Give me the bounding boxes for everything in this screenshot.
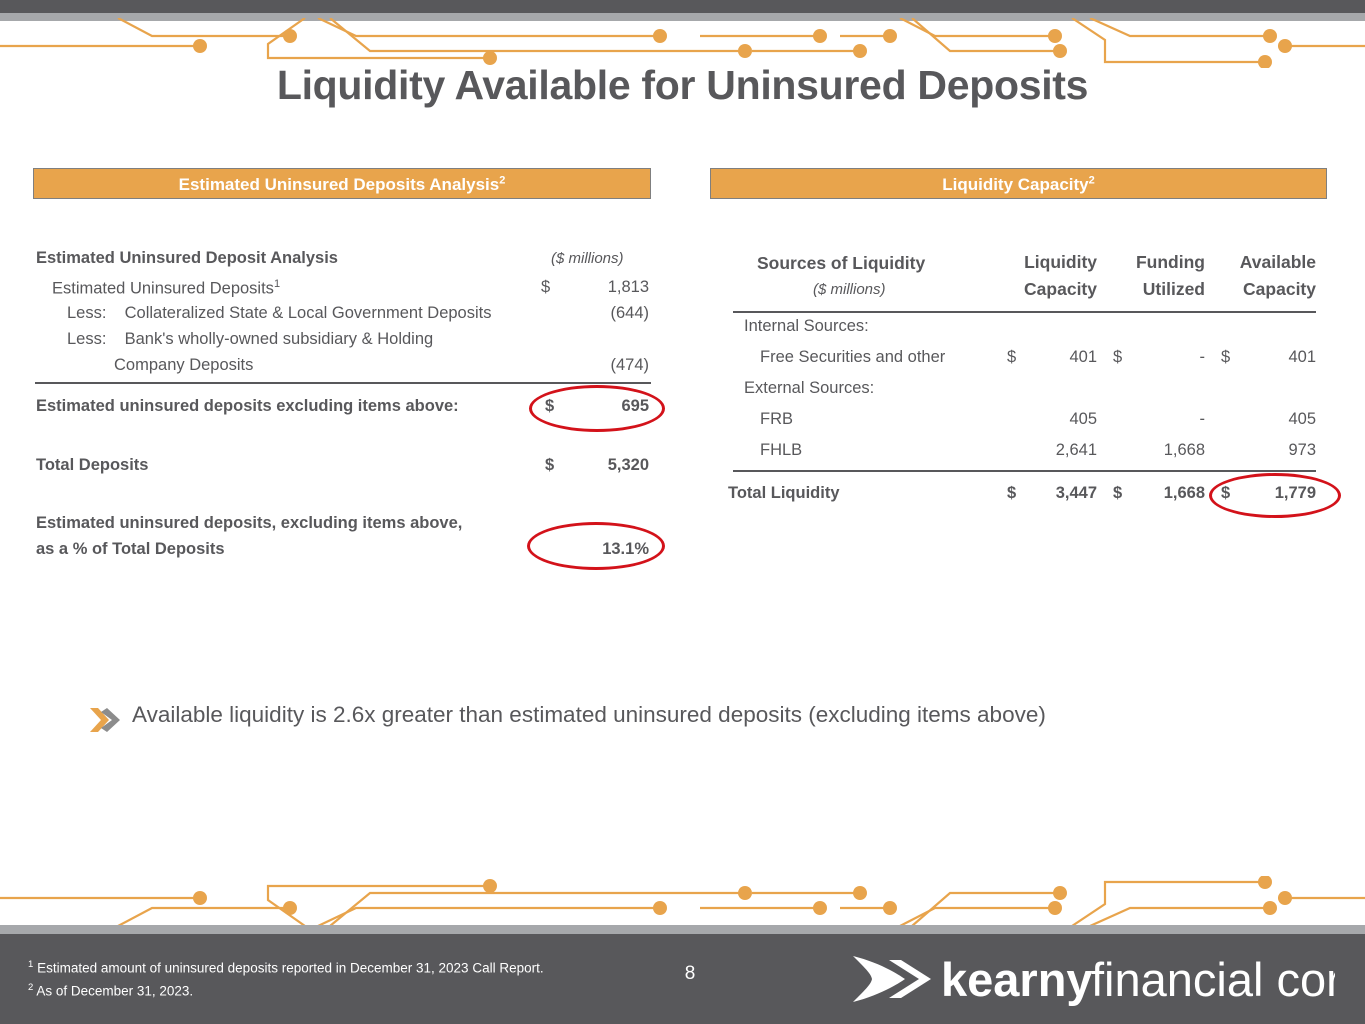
- total-deposits-label: Total Deposits: [36, 456, 148, 475]
- total-deposits-currency: $: [545, 456, 554, 475]
- liq-row-3-v1: 405: [1022, 410, 1097, 429]
- liq-row-4-v2: 1,668: [1128, 441, 1205, 460]
- subtotal-value: 695: [560, 397, 649, 416]
- total-liquidity-v2: 1,668: [1128, 484, 1205, 503]
- left-panel-header: Estimated Uninsured Deposits Analysis2: [33, 168, 651, 199]
- liq-row-1-cur1: $: [1007, 348, 1016, 367]
- total-deposits-value: 5,320: [560, 456, 649, 475]
- right-panel-header-label: Liquidity Capacity: [942, 175, 1088, 194]
- subtotal-currency: $: [545, 397, 554, 416]
- liq-row-3-label: FRB: [760, 410, 793, 429]
- bottom-light-bar: [0, 925, 1365, 934]
- row-0-superscript: 1: [274, 278, 280, 290]
- col-header-available: Available: [1221, 252, 1316, 273]
- table-row-label-0: Estimated Uninsured Deposits1: [52, 278, 280, 299]
- row-2-prefix: Less:: [67, 330, 106, 348]
- col-header-units: ($ millions): [813, 281, 886, 298]
- total-liquidity-cur2: $: [1113, 484, 1122, 503]
- footnote-1: 1 Estimated amount of uninsured deposits…: [28, 955, 544, 978]
- liq-row-1-cur3: $: [1221, 348, 1230, 367]
- table-row-label-3: Company Deposits: [114, 356, 253, 375]
- row-1-prefix: Less:: [67, 304, 106, 322]
- row-2-label: Bank's wholly-owned subsidiary & Holding: [125, 330, 434, 348]
- liq-row-1-label: Free Securities and other: [760, 348, 945, 367]
- col-header-capacity-2: Capacity: [1221, 279, 1316, 300]
- subtotal-label: Estimated uninsured deposits excluding i…: [36, 397, 459, 416]
- footnote-1-text: Estimated amount of uninsured deposits r…: [37, 961, 544, 976]
- logo-light-text: financial corp.: [1091, 953, 1335, 1006]
- liq-row-1-cur2: $: [1113, 348, 1122, 367]
- liq-row-3-v2: -: [1128, 410, 1205, 429]
- ratio-value: 13.1%: [560, 540, 649, 559]
- liq-row-1-v2: -: [1128, 348, 1205, 367]
- kearny-financial-corp-logo: kearny financial corp.: [845, 948, 1335, 1010]
- logo-bold-text: kearny: [941, 953, 1093, 1006]
- col-header-funding: Funding: [1113, 252, 1205, 273]
- right-table-rule-1: [733, 311, 1316, 313]
- ratio-label-line2: as a % of Total Deposits: [36, 540, 225, 559]
- col-header-utilized: Utilized: [1113, 279, 1205, 300]
- total-liquidity-v1: 3,447: [1022, 484, 1097, 503]
- footnote-2-text: As of December 31, 2023.: [36, 983, 193, 998]
- circuit-decoration-bottom: [0, 876, 1365, 926]
- circuit-decoration-top: [0, 18, 1365, 68]
- ratio-label-line1: Estimated uninsured deposits, excluding …: [36, 514, 462, 533]
- liq-row-3-v3: 405: [1236, 410, 1316, 429]
- page-number: 8: [660, 963, 720, 985]
- left-panel-header-label: Estimated Uninsured Deposits Analysis: [179, 175, 500, 194]
- liq-row-4-label: FHLB: [760, 441, 802, 460]
- footnote-1-marker: 1: [28, 959, 33, 970]
- total-liquidity-v3: 1,779: [1236, 484, 1316, 503]
- row-3-value: (474): [560, 356, 649, 375]
- page-title: Liquidity Available for Uninsured Deposi…: [0, 62, 1365, 109]
- row-1-value: (644): [560, 304, 649, 323]
- left-table-rule-1: [35, 382, 651, 384]
- table-row-label-1: Less: Collateralized State & Local Gover…: [67, 304, 491, 323]
- row-0-currency: $: [541, 278, 550, 297]
- liq-row-1-v1: 401: [1022, 348, 1097, 367]
- total-liquidity-cur3: $: [1221, 484, 1230, 503]
- left-table-title: Estimated Uninsured Deposit Analysis: [36, 249, 338, 268]
- key-takeaway-bullet: Available liquidity is 2.6x greater than…: [88, 702, 1318, 742]
- liq-row-2-label: External Sources:: [744, 379, 874, 398]
- liq-row-0-label: Internal Sources:: [744, 317, 869, 336]
- double-chevron-arrow-icon: [88, 706, 122, 734]
- col-header-sources: Sources of Liquidity: [757, 253, 925, 274]
- liq-row-1-v3: 401: [1236, 348, 1316, 367]
- key-takeaway-text: Available liquidity is 2.6x greater than…: [132, 702, 1046, 728]
- left-table-units: ($ millions): [551, 250, 624, 267]
- row-0-value: 1,813: [560, 278, 649, 297]
- logo-svg: kearny financial corp.: [845, 948, 1335, 1010]
- right-panel-header-superscript: 2: [1089, 174, 1095, 186]
- col-header-liquidity: Liquidity: [1005, 252, 1097, 273]
- liq-row-4-v3: 973: [1236, 441, 1316, 460]
- left-panel-header-superscript: 2: [499, 174, 505, 186]
- liq-row-4-v1: 2,641: [1022, 441, 1097, 460]
- right-table-rule-2: [733, 470, 1316, 472]
- total-liquidity-cur1: $: [1007, 484, 1016, 503]
- footnote-2: 2 As of December 31, 2023.: [28, 978, 544, 1001]
- row-1-label: Collateralized State & Local Government …: [125, 304, 492, 322]
- footnote-2-marker: 2: [28, 982, 33, 993]
- col-header-capacity-1: Capacity: [1005, 279, 1097, 300]
- footnotes: 1 Estimated amount of uninsured deposits…: [28, 955, 544, 1000]
- total-liquidity-label: Total Liquidity: [728, 484, 840, 503]
- table-row-label-2: Less: Bank's wholly-owned subsidiary & H…: [67, 330, 433, 349]
- right-panel-header: Liquidity Capacity2: [710, 168, 1327, 199]
- top-dark-bar: [0, 0, 1365, 13]
- row-0-label: Estimated Uninsured Deposits: [52, 280, 274, 298]
